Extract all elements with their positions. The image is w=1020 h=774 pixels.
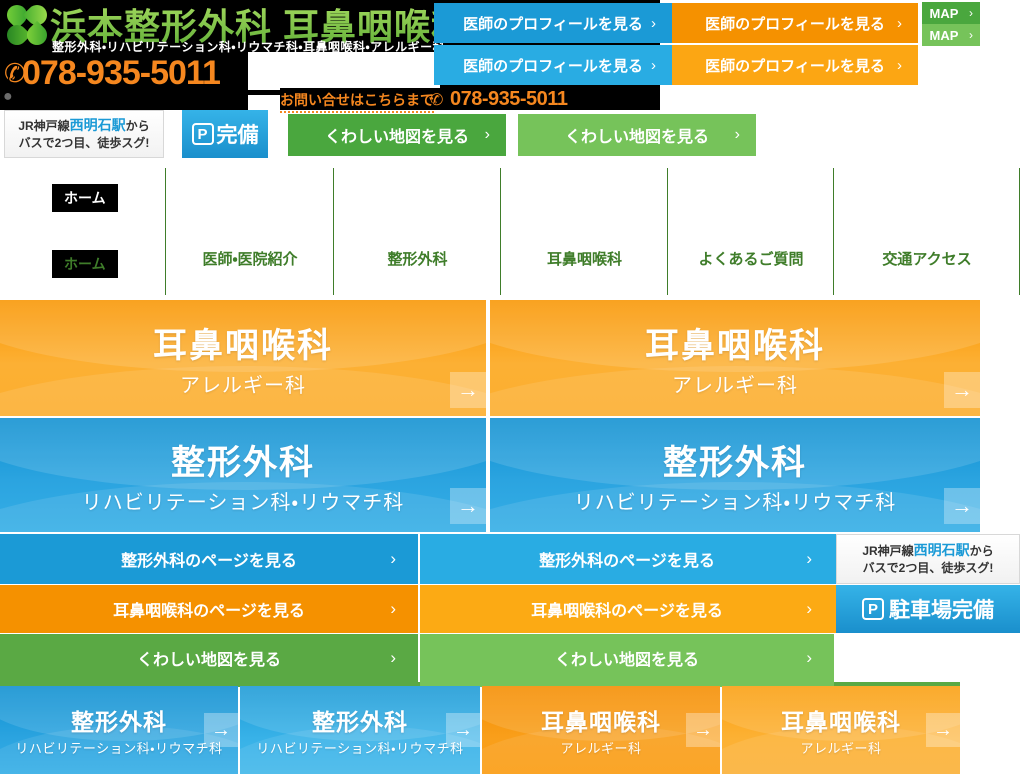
map-pin-icon: ● [3,88,13,106]
access-station-name: 西明石駅 [70,117,126,133]
doctor-profile-button-2[interactable]: 医師のプロフィールを見る › [672,3,918,43]
chevron-right-icon: › [651,57,656,74]
chevron-right-icon: › [390,599,396,619]
doctor-profile-label-3: 医師のプロフィールを見る [463,55,643,76]
chevron-right-icon: › [897,15,902,32]
nav-label-faq: よくあるご質問 [698,248,803,295]
nav-label-ent: 耳鼻咽喉科 [547,248,622,295]
hero-title: 整形外科 [171,435,315,484]
arrow-right-icon[interactable]: → [686,713,720,747]
contact-label: お問い合せはこちらまで [280,90,434,113]
hero-banner-area: 耳鼻咽喉科 アレルギー科 → 耳鼻咽喉科 アレルギー科 → 整形外科 リハビリテ… [0,300,1020,532]
hero-subtitle: アレルギー科 [672,369,798,398]
hero-card-ent-1[interactable]: 耳鼻咽喉科 アレルギー科 → [0,300,486,416]
bottom-card-subtitle: アレルギー科 [560,738,641,757]
parking-card: P 駐車場完備 [836,585,1020,633]
four-leaf-clover-icon [6,4,50,48]
detailed-map-button-1[interactable]: くわしい地図を見る › [288,114,506,156]
access-card-prefix: JR神戸線 [862,544,913,558]
chevron-right-icon: › [485,126,490,144]
hero-title: 耳鼻咽喉科 [153,318,333,367]
access-card-station: 西明石駅 [914,542,970,558]
hero-subtitle: リハビリテーション科・リウマチ科 [574,486,896,515]
map-button-label-2: MAP [930,28,959,43]
contact-phone-number: 078-935-5011 [450,88,567,111]
access-line-1: JR神戸線西明石駅から [18,117,149,135]
bottom-card-ent-1[interactable]: 耳鼻咽喉科 アレルギー科 → [482,686,720,774]
nav-label-doctor-intro: 医師・医院紹介 [202,248,297,295]
page-root: 浜本整形外科 耳鼻咽喉科 整形外科・リハビリテーション科・リウマチ科・耳鼻咽喉科… [0,0,1020,774]
clover-leaf-4 [23,21,51,49]
link-label: くわしい地図を見る [137,646,281,670]
hero-subtitle: リハビリテーション科・リウマチ科 [82,486,404,515]
link-button-map-right[interactable]: くわしい地図を見る › [420,634,834,682]
link-label: 整形外科のページを見る [539,547,715,571]
access-line1-suffix: から [126,119,150,133]
header-phone-number: 078-935-5011 [22,54,220,93]
bottom-card-title: 耳鼻咽喉科 [541,703,661,737]
arrow-right-icon[interactable]: → [926,713,960,747]
hero-title: 耳鼻咽喉科 [645,318,825,367]
bottom-card-title: 耳鼻咽喉科 [781,703,901,737]
nav-home-label-top: ホーム [52,184,118,212]
link-button-orthopedics-left[interactable]: 整形外科のページを見る › [0,534,418,584]
parking-text: 完備 [217,119,259,149]
link-label: 耳鼻咽喉科のページを見る [531,597,723,621]
contact-strip: お問い合せはこちらまで ✆ 078-935-5011 [280,88,660,110]
bottom-card-ent-2[interactable]: 耳鼻咽喉科 アレルギー科 → [722,686,960,774]
contact-phone-icon: ✆ [430,90,443,110]
arrow-right-icon[interactable]: → [446,713,480,747]
doctor-profile-label-4: 医師のプロフィールを見る [705,55,885,76]
link-button-ent-left[interactable]: 耳鼻咽喉科のページを見る › [0,585,418,633]
nav-item-doctor-intro[interactable]: 医師・医院紹介 [166,168,334,295]
bottom-card-title: 整形外科 [71,703,167,737]
access-card-suffix: から [970,544,994,558]
chevron-right-icon: › [651,15,656,32]
nav-item-faq[interactable]: よくあるご質問 [668,168,834,295]
nav-label-orthopedics: 整形外科 [387,248,447,295]
map-button-2[interactable]: MAP › [922,24,980,46]
parking-p-icon: P [192,123,214,145]
bottom-card-subtitle: リハビリテーション科・リウマチ科 [256,738,463,757]
hero-subtitle: アレルギー科 [180,369,306,398]
bottom-card-subtitle: リハビリテーション科・リウマチ科 [15,738,222,757]
link-label: くわしい地図を見る [555,646,699,670]
nav-label-access: 交通アクセス [882,248,971,295]
link-button-map-left[interactable]: くわしい地図を見る › [0,634,418,682]
arrow-right-icon[interactable]: → [450,488,486,524]
link-label: 耳鼻咽喉科のページを見る [113,597,305,621]
access-line-2: バスで2つ目、徒歩スグ! [19,135,150,152]
chevron-right-icon: › [390,549,396,569]
link-label: 整形外科のページを見る [121,547,297,571]
bottom-card-title: 整形外科 [312,703,408,737]
arrow-right-icon[interactable]: → [944,372,980,408]
chevron-right-icon: › [806,549,812,569]
parking-p-icon: P [862,598,884,620]
bottom-card-subtitle: アレルギー科 [800,738,881,757]
hero-card-orthopedics-2[interactable]: 整形外科 リハビリテーション科・リウマチ科 → [490,418,980,532]
hero-card-ent-2[interactable]: 耳鼻咽喉科 アレルギー科 → [490,300,980,416]
access-card-line-1: JR神戸線西明石駅から [862,542,993,560]
parking-badge-box: P 完備 [182,110,268,158]
header-white-panel [248,52,440,90]
nav-item-ent[interactable]: 耳鼻咽喉科 [501,168,668,295]
access-card-line-2: バスで2つ目、徒歩スグ! [863,560,994,577]
arrow-right-icon[interactable]: → [450,372,486,408]
chevron-right-icon: › [969,6,973,20]
chevron-right-icon: › [969,28,973,42]
chevron-right-icon: › [806,599,812,619]
hero-title: 整形外科 [663,435,807,484]
detailed-map-label-2: くわしい地図を見る [565,123,709,147]
access-info-box: JR神戸線西明石駅から バスで2つ目、徒歩スグ! [4,110,164,158]
doctor-profile-button-1[interactable]: 医師のプロフィールを見る › [434,3,672,43]
nav-home-label-bottom: ホーム [52,250,118,278]
chevron-right-icon: › [806,648,812,668]
bottom-card-orthopedics-2[interactable]: 整形外科 リハビリテーション科・リウマチ科 → [240,686,480,774]
nav-grid: ホーム ホーム 医師・医院紹介 整形外科 耳鼻咽喉科 よくあるご質問 交通 [0,168,1020,295]
arrow-right-icon[interactable]: → [204,713,238,747]
hero-card-orthopedics-1[interactable]: 整形外科 リハビリテーション科・リウマチ科 → [0,418,486,532]
link-button-ent-right[interactable]: 耳鼻咽喉科のページを見る › [420,585,834,633]
access-line1-prefix: JR神戸線 [18,119,69,133]
detailed-map-label-1: くわしい地図を見る [325,123,469,147]
nav-item-access[interactable]: 交通アクセス [834,168,1020,295]
doctor-profile-button-3[interactable]: 医師のプロフィールを見る › [434,45,672,85]
access-info-card: JR神戸線西明石駅から バスで2つ目、徒歩スグ! [836,534,1020,584]
global-navigation: ホーム ホーム 医師・医院紹介 整形外科 耳鼻咽喉科 よくあるご質問 交通 [0,168,1020,295]
nav-item-orthopedics[interactable]: 整形外科 [334,168,501,295]
sidebar-item-home[interactable]: ホーム ホーム [0,168,166,295]
doctor-profile-label-1: 医師のプロフィールを見る [463,13,643,34]
link-button-orthopedics-right[interactable]: 整形外科のページを見る › [420,534,834,584]
detailed-map-button-2[interactable]: くわしい地図を見る › [518,114,756,156]
chevron-right-icon: › [390,648,396,668]
chevron-right-icon: › [735,126,740,144]
map-button-label-1: MAP [930,6,959,21]
arrow-right-icon[interactable]: → [944,488,980,524]
bottom-card-orthopedics-1[interactable]: 整形外科 リハビリテーション科・リウマチ科 → [0,686,238,774]
doctor-profile-button-4[interactable]: 医師のプロフィールを見る › [672,45,918,85]
doctor-profile-label-2: 医師のプロフィールを見る [705,13,885,34]
map-button-1[interactable]: MAP › [922,2,980,24]
parking-card-text: 駐車場完備 [889,594,994,624]
chevron-right-icon: › [897,57,902,74]
